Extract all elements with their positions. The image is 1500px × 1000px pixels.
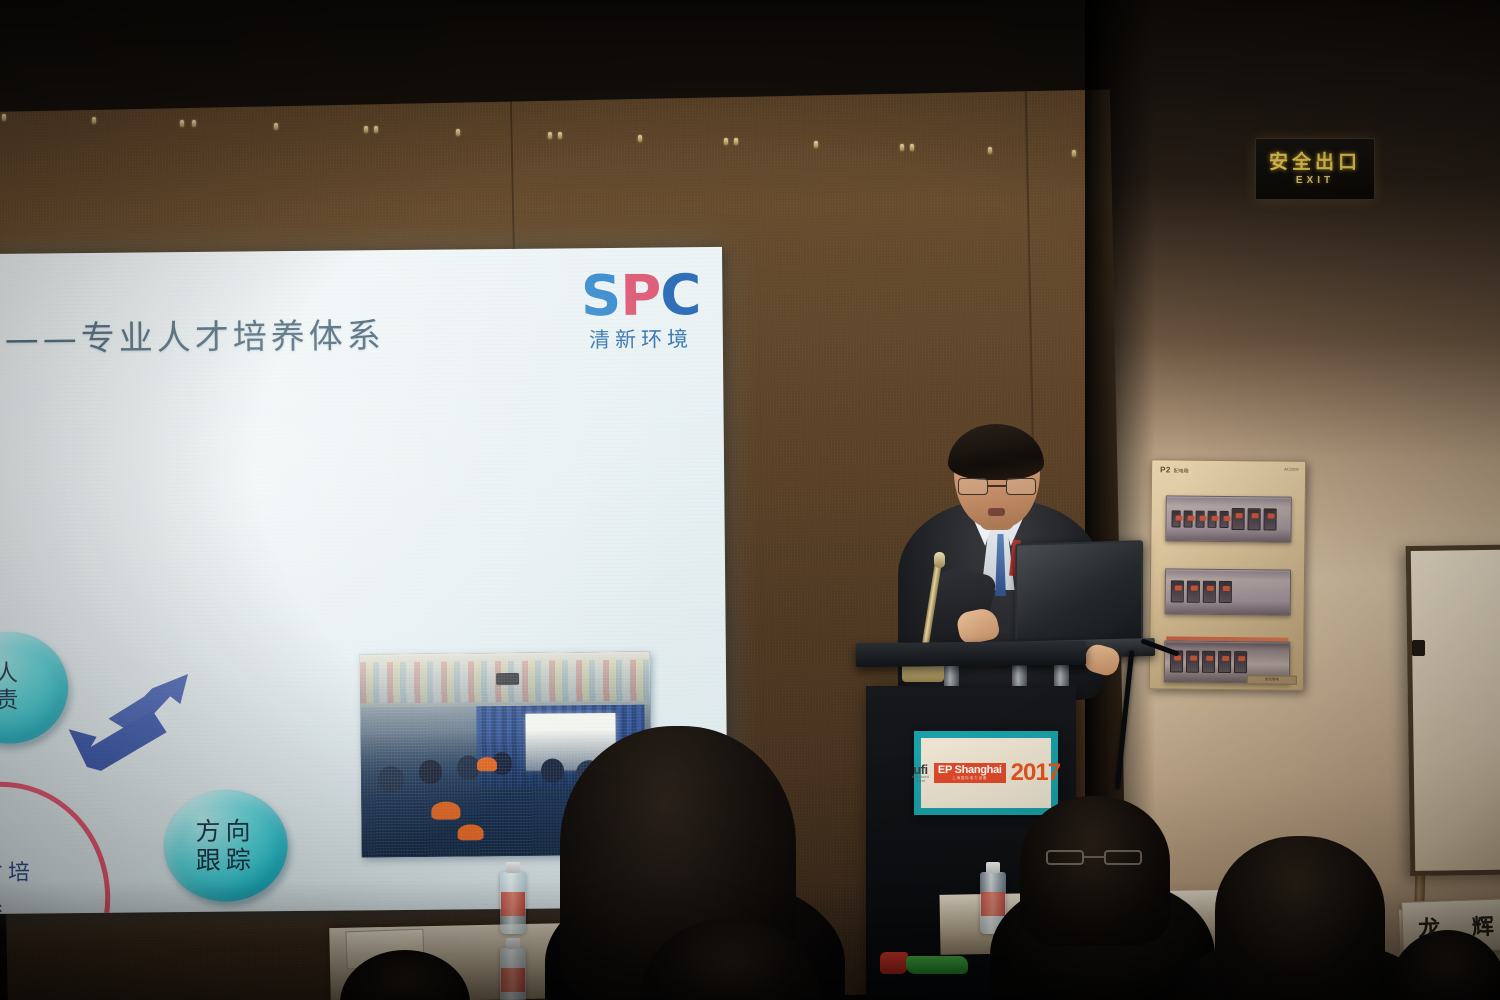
speaker-mouth <box>988 508 1005 516</box>
whiteboard <box>1406 544 1500 876</box>
wall-tack-icon <box>456 129 460 136</box>
circuit-breaker-icon[interactable] <box>1218 651 1231 673</box>
podium-top-surface <box>856 641 1086 667</box>
circuit-breaker-icon[interactable] <box>1195 510 1204 527</box>
diagram-center-label-line1: 人才培 <box>0 857 104 890</box>
circuit-breaker-icon[interactable] <box>1172 510 1181 527</box>
exit-sign-english: EXIT <box>1296 175 1334 186</box>
podium-event-sign: ufi Approved Event EP Shanghai 上海国际电力设备 … <box>914 731 1058 815</box>
circuit-breaker-icon[interactable] <box>1219 510 1228 527</box>
glasses-lens-right <box>1104 850 1142 865</box>
wall-tack-icon <box>92 117 96 124</box>
glasses-bridge <box>988 485 1006 487</box>
spc-letter-p: P <box>620 263 661 328</box>
wall-tack-icon <box>900 144 904 151</box>
circuit-breaker-icon[interactable] <box>1231 508 1244 530</box>
bottle-label <box>981 892 1005 916</box>
ep-shanghai-title: EP Shanghai <box>938 765 1002 776</box>
circuit-breaker-icon[interactable] <box>1207 510 1216 527</box>
spc-letter-s: S <box>581 264 621 329</box>
panel-foot-tag: 安全用电 <box>1247 675 1297 685</box>
wall-tack-icon <box>724 138 728 145</box>
bottle-cap <box>506 862 520 873</box>
wall-tack-icon <box>274 123 278 130</box>
photo-hard-hat-icon <box>431 802 460 821</box>
table-ornament <box>880 950 970 976</box>
ufi-logo-sub-2: Event <box>915 780 925 784</box>
circuit-breaker-icon[interactable] <box>1263 508 1276 530</box>
panel-label-sub: 配电箱 <box>1174 468 1189 474</box>
wall-tack-icon <box>2 114 6 121</box>
panel-corner-tag: AC220V <box>1284 467 1299 472</box>
circuit-breaker-icon[interactable] <box>1247 508 1260 530</box>
glasses-lens-left <box>958 478 988 495</box>
circuit-breaker-icon[interactable] <box>1234 651 1247 673</box>
microphone-capsule-icon <box>934 552 945 568</box>
wall-tack-icon <box>814 141 818 148</box>
glasses-lens-left <box>1046 850 1084 865</box>
slide-title: ——专业人才培养体系 <box>5 308 385 361</box>
water-bottle <box>500 948 526 1000</box>
wall-tack-icon <box>1072 150 1076 157</box>
glasses-lens-right <box>1006 478 1036 495</box>
ep-shanghai-subtitle: 上海国际电力设备 <box>952 777 987 780</box>
wall-tack-icon <box>374 126 378 133</box>
circuit-breaker-icon[interactable] <box>1219 581 1232 603</box>
ep-shanghai-logo: EP Shanghai 上海国际电力设备 <box>934 763 1006 782</box>
circuit-breaker-icon[interactable] <box>1183 510 1192 527</box>
bubble-line1: 人 <box>0 661 23 688</box>
exit-sign-chinese: 安全出口 <box>1269 153 1361 172</box>
conference-photo-scene: 安全出口 EXIT P2 配电箱 AC220V <box>0 0 1500 1000</box>
wall-tack-icon <box>548 132 552 139</box>
spc-logo-chinese: 清新环境 <box>581 323 701 354</box>
bubble-line2: 责 <box>0 688 23 715</box>
photo-person-head <box>419 759 442 784</box>
circuit-breaker-icon[interactable] <box>1186 651 1199 673</box>
bottle-cap <box>506 938 520 949</box>
laptop-screen[interactable] <box>1015 540 1143 648</box>
spc-letter-c: C <box>660 263 701 328</box>
photo-hard-hat-icon <box>477 757 497 771</box>
wall-tack-icon <box>558 132 562 139</box>
breaker-row[interactable] <box>1165 568 1291 615</box>
circuit-breaker-icon[interactable] <box>1202 651 1215 673</box>
bottle-cap <box>986 862 1000 873</box>
audience-glasses-icon <box>1046 850 1142 865</box>
wall-tack-icon <box>638 135 642 142</box>
whiteboard-clip-icon <box>1412 640 1425 656</box>
ufi-logo-main: ufi <box>913 763 927 776</box>
circuit-breaker-icon[interactable] <box>1187 581 1200 603</box>
spc-logo: SPC 清新环境 <box>581 269 701 354</box>
speaker-glasses-icon <box>958 478 1036 495</box>
wall-tack-icon <box>734 138 738 145</box>
circuit-breaker-icon[interactable] <box>1203 581 1216 603</box>
ornament-green-part <box>906 956 968 974</box>
bottle-label <box>501 892 525 916</box>
wall-tack-icon <box>364 126 368 133</box>
panel-label-code: P2 <box>1160 465 1171 474</box>
water-bottle <box>500 872 526 934</box>
breaker-row[interactable] <box>1165 495 1291 542</box>
photo-person-head <box>541 758 564 783</box>
bubble-line1: 方向 <box>195 816 255 846</box>
photo-hard-hat-icon <box>457 824 483 840</box>
wall-tack-icon <box>180 120 184 127</box>
diagram-center-label-line2: 体系 <box>0 889 104 914</box>
wall-tack-icon <box>988 147 992 154</box>
circuit-breaker-icon[interactable] <box>1171 580 1184 602</box>
event-year: 2017 <box>1011 759 1060 787</box>
audience-head-center-right <box>1020 796 1170 946</box>
wall-tack-icon <box>192 120 196 127</box>
photo-projector-icon <box>496 673 519 685</box>
diagram-arrow-pair-upper <box>56 669 247 811</box>
bottle-label <box>501 968 525 992</box>
glasses-bridge <box>1084 856 1104 858</box>
photo-person-head <box>378 766 404 793</box>
wall-tack-icon <box>910 144 914 151</box>
electrical-distribution-panel: P2 配电箱 AC220V 安全用电 <box>1149 459 1306 691</box>
diagram-center-label: 人才培 体系 <box>0 857 104 914</box>
ornament-red-part <box>880 952 908 974</box>
panel-label: P2 配电箱 <box>1160 465 1189 474</box>
bubble-line2: 跟踪 <box>196 845 256 875</box>
exit-sign: 安全出口 EXIT <box>1255 138 1375 200</box>
audience-head-right <box>1215 836 1385 1000</box>
spc-logo-mark: SPC <box>581 269 701 323</box>
ufi-logo: ufi Approved Event <box>912 763 929 783</box>
